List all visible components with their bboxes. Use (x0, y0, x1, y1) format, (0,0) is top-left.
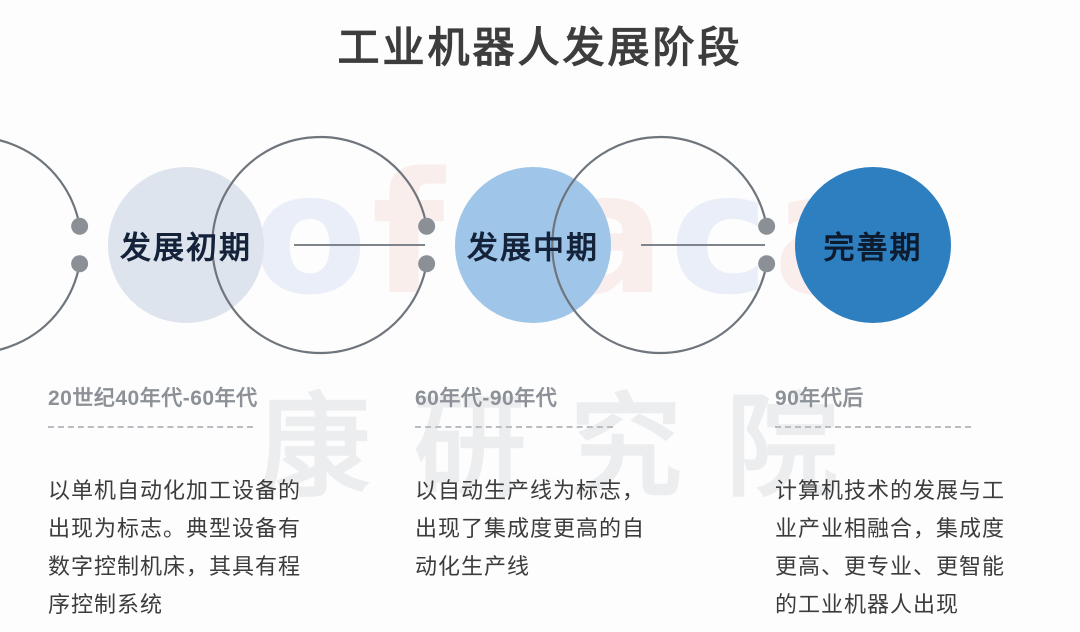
stage-date-early: 20世纪40年代-60年代 (48, 382, 304, 412)
stage-arc-dot-top-middle (418, 255, 435, 272)
stage-divider-mature (775, 426, 971, 428)
watermark-letter: f (371, 136, 448, 332)
stage-column-mature: 90年代后计算机技术的发展与工业产业相融合，集成度更高、更专业、更智能的工业机器… (775, 382, 1017, 624)
stage-label-early: 发展初期 (120, 223, 252, 268)
stage-date-middle: 60年代-90年代 (415, 382, 661, 412)
page-title: 工业机器人发展阶段 (0, 14, 1080, 75)
stage-label-mature: 完善期 (824, 223, 923, 268)
stage-arc-dot-top-early (71, 255, 88, 272)
stage-divider-middle (415, 426, 613, 428)
watermark-letter: c (669, 136, 773, 332)
stage-column-early: 20世纪40年代-60年代以单机自动化加工设备的出现为标志。典型设备有数字控制机… (48, 382, 304, 624)
stage-arc-dot-bottom-early (71, 218, 88, 235)
stage-arc-early (0, 137, 80, 353)
infographic-canvas: ofcaca 康研究院 工业机器人发展阶段 发展初期发展中期完善期 20世纪40… (0, 0, 1080, 632)
stage-column-middle: 60年代-90年代以自动生产线为标志，出现了集成度更高的自动化生产线 (415, 382, 661, 586)
stage-description-early: 以单机自动化加工设备的出现为标志。典型设备有数字控制机床，其具有程序控制系统 (48, 472, 304, 624)
stage-arc-dot-top-mature (758, 255, 775, 272)
stage-label-middle: 发展中期 (467, 223, 599, 268)
watermark-letter: o (252, 136, 371, 332)
stage-arc-dot-bottom-middle (418, 218, 435, 235)
stage-arc-dot-bottom-mature (758, 218, 775, 235)
stage-description-mature: 计算机技术的发展与工业产业相融合，集成度更高、更专业、更智能的工业机器人出现 (775, 472, 1017, 624)
stage-divider-early (48, 426, 253, 428)
stage-date-mature: 90年代后 (775, 382, 1017, 412)
stage-description-middle: 以自动生产线为标志，出现了集成度更高的自动化生产线 (415, 472, 661, 586)
